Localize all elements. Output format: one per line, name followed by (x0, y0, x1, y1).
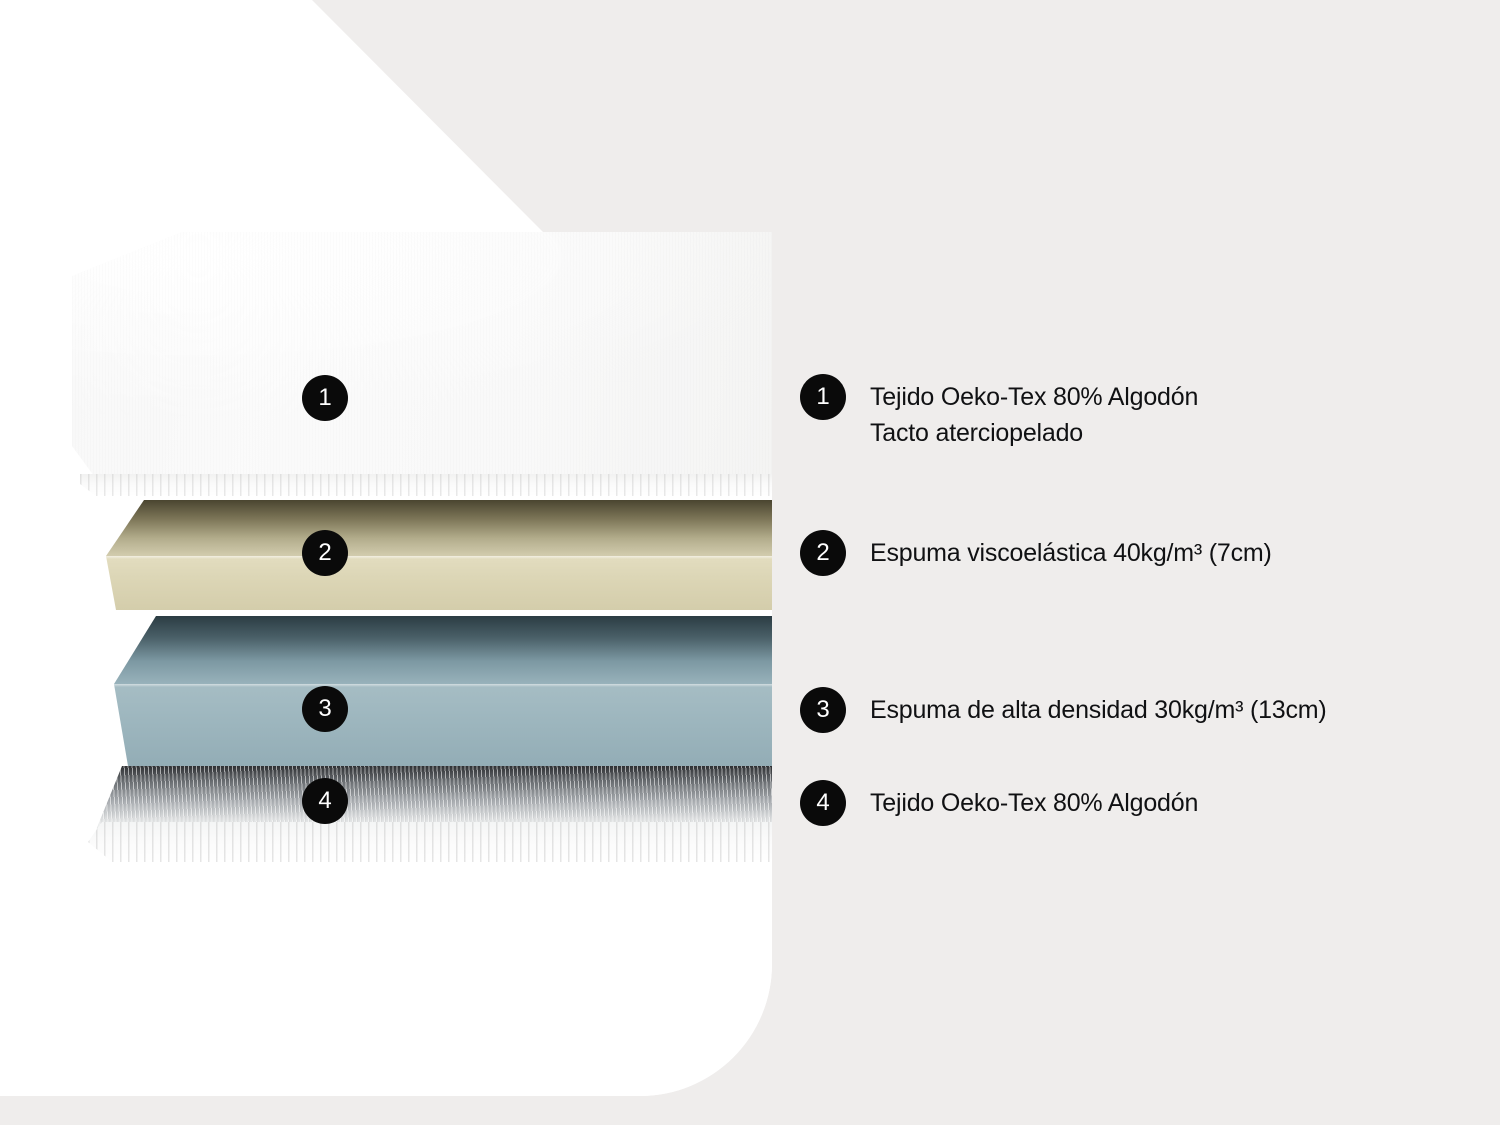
stack-badge-2: 2 (302, 530, 348, 576)
stack-badge-1: 1 (302, 375, 348, 421)
stack-badge-3: 3 (302, 686, 348, 732)
infographic-stage: 1 2 3 4 1 Tejido Oeko-Tex 80% Algodón Ta… (0, 0, 1500, 1125)
legend-badge-4: 4 (800, 780, 846, 826)
stack-badge-4: 4 (302, 778, 348, 824)
legend-badge-2: 2 (800, 530, 846, 576)
legend-label-2: Espuma viscoelástica 40kg/m³ (7cm) (870, 530, 1272, 571)
mattress-layer-stack: 1 2 3 4 (0, 0, 800, 1125)
mattress-layer-3-foam-bevel (114, 616, 772, 684)
layer-legend: 1 Tejido Oeko-Tex 80% Algodón Tacto ater… (800, 0, 1500, 1125)
mattress-layer-4-stitched-edge (88, 822, 772, 862)
mattress-layer-2-foam-bevel (106, 500, 772, 556)
mattress-layer-1-stitched-edge (80, 474, 772, 496)
legend-item-1: 1 Tejido Oeko-Tex 80% Algodón Tacto ater… (800, 374, 1198, 452)
legend-label-4: Tejido Oeko-Tex 80% Algodón (870, 780, 1198, 821)
legend-item-2: 2 Espuma viscoelástica 40kg/m³ (7cm) (800, 530, 1272, 576)
legend-label-3: Espuma de alta densidad 30kg/m³ (13cm) (870, 687, 1327, 728)
legend-badge-3: 3 (800, 687, 846, 733)
mattress-layer-3-foam-face (114, 684, 772, 766)
legend-item-4: 4 Tejido Oeko-Tex 80% Algodón (800, 780, 1198, 826)
legend-badge-1: 1 (800, 374, 846, 420)
mattress-layer-4-striped-band (96, 766, 772, 830)
legend-label-1: Tejido Oeko-Tex 80% Algodón Tacto aterci… (870, 374, 1198, 452)
legend-item-3: 3 Espuma de alta densidad 30kg/m³ (13cm) (800, 687, 1327, 733)
mattress-layer-2-foam-face (106, 556, 772, 610)
mattress-layer-1-top-cover (72, 232, 772, 484)
